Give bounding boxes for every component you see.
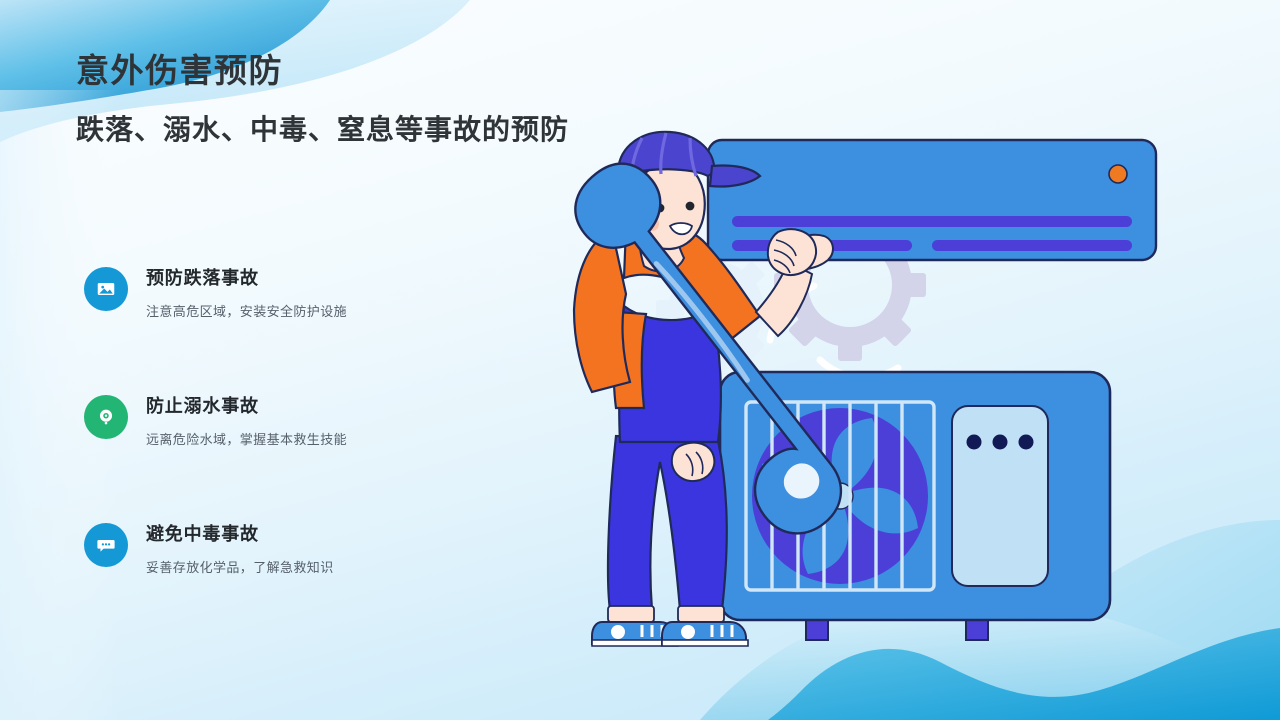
- list-item-body: 避免中毒事故 妥善存放化学品，了解急救知识: [146, 521, 514, 578]
- list-item-body: 预防跌落事故 注意高危区域，安装安全防护设施: [146, 265, 514, 322]
- list-item-body: 防止溺水事故 远离危险水域，掌握基本救生技能: [146, 393, 514, 450]
- led-indicator-icon: [1109, 165, 1127, 183]
- list-item-description: 注意高危区域，安装安全防护设施: [146, 303, 514, 322]
- image-icon: [84, 267, 128, 311]
- page-title: 意外伤害预防: [76, 50, 696, 91]
- feature-list: 预防跌落事故 注意高危区域，安装安全防护设施 防止溺水事故 远离危险水域，掌握基…: [84, 265, 514, 621]
- webcam-icon: [84, 395, 128, 439]
- eye: [686, 202, 695, 211]
- vent-panel: [952, 406, 1048, 586]
- list-item-title: 预防跌落事故: [146, 267, 514, 290]
- list-item-title: 防止溺水事故: [146, 395, 514, 418]
- list-item-description: 远离危险水域，掌握基本救生技能: [146, 431, 514, 450]
- list-item[interactable]: 防止溺水事故 远离危险水域，掌握基本救生技能: [84, 393, 514, 493]
- illustration-air-conditioner-repair: [520, 110, 1220, 670]
- slide-canvas: 意外伤害预防 跌落、溺水、中毒、窒息等事故的预防 预防跌落事故 注意高危区域，安…: [0, 0, 1280, 720]
- list-item-title: 避免中毒事故: [146, 523, 514, 546]
- list-item[interactable]: 预防跌落事故 注意高危区域，安装安全防护设施: [84, 265, 514, 365]
- list-item-description: 妥善存放化学品，了解急救知识: [146, 559, 514, 578]
- sneaker: [662, 622, 748, 646]
- list-item[interactable]: 避免中毒事故 妥善存放化学品，了解急救知识: [84, 521, 514, 621]
- hand-grip: [768, 229, 816, 275]
- chat-bubble-icon: [84, 523, 128, 567]
